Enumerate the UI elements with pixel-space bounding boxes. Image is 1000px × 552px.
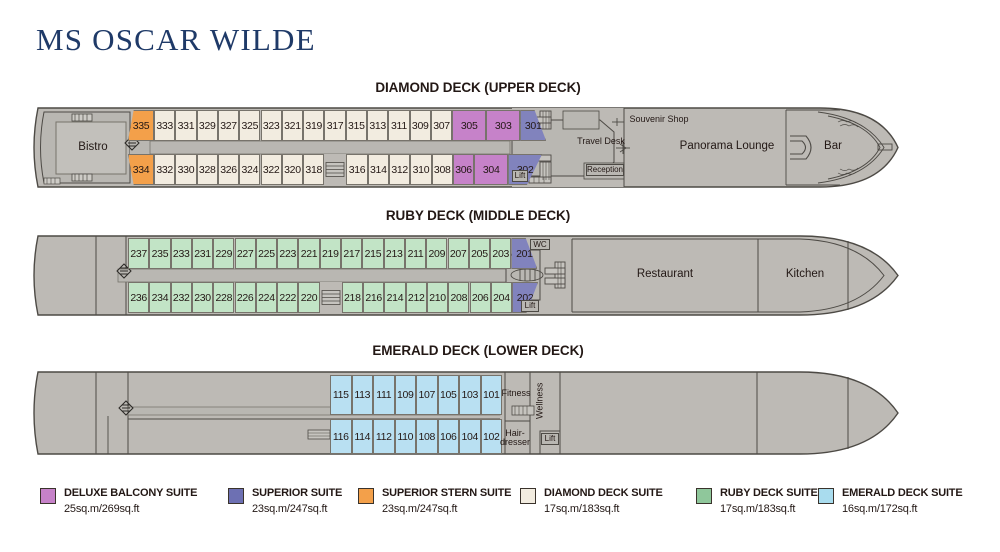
cabin-number: 306 (455, 164, 472, 176)
room-label-lift: Lift (521, 300, 539, 312)
cabin-317[interactable]: 317 (324, 110, 345, 141)
cabin-number: 320 (284, 164, 301, 176)
cabin-number: 104 (461, 431, 478, 443)
deck-heading-ruby: RUBY DECK (MIDDLE DECK) (0, 208, 978, 223)
cabin-number: 305 (461, 120, 478, 132)
stairwell-icon (320, 282, 342, 313)
legend-swatch (520, 488, 536, 504)
page-title: MS OSCAR WILDE (36, 22, 316, 58)
cabin-223[interactable]: 223 (277, 238, 298, 269)
cabin-number: 232 (173, 292, 190, 304)
room-label-lift: Lift (512, 170, 528, 182)
cabin-212[interactable]: 212 (406, 282, 427, 313)
cabin-number: 224 (258, 292, 275, 304)
cabin-number: 207 (450, 248, 467, 260)
cabin-106[interactable]: 106 (438, 419, 460, 454)
cabin-number: 309 (412, 120, 429, 132)
cabin-number: 334 (133, 164, 150, 176)
cabin-number: 231 (194, 248, 211, 260)
cabin-number: 322 (263, 164, 280, 176)
room-label-bistro: Bistro (60, 138, 126, 158)
legend-label: SUPERIOR SUITE (252, 487, 342, 499)
legend-label: DIAMOND DECK SUITE (544, 487, 663, 499)
cabin-number: 205 (471, 248, 488, 260)
cabin-number: 223 (279, 248, 296, 260)
cabin-number: 329 (199, 120, 216, 132)
cabin-number: 106 (440, 431, 457, 443)
cabin-237[interactable]: 237 (128, 238, 149, 269)
cabin-number: 206 (472, 292, 489, 304)
cabin-number: 112 (376, 431, 392, 443)
cabin-105[interactable]: 105 (438, 375, 460, 415)
cabin-number: 226 (237, 292, 254, 304)
cabin-number: 325 (242, 120, 259, 132)
cabin-207[interactable]: 207 (448, 238, 469, 269)
cabin-number: 213 (386, 248, 403, 260)
cabin-number: 326 (220, 164, 237, 176)
cabin-224[interactable]: 224 (256, 282, 277, 313)
cabin-222[interactable]: 222 (277, 282, 298, 313)
cabin-number: 328 (199, 164, 216, 176)
cabin-number: 235 (152, 248, 169, 260)
cabin-number: 217 (343, 248, 360, 260)
legend-size: 23sq.m/247sq.ft (382, 503, 457, 515)
cabin-318[interactable]: 318 (303, 154, 324, 185)
cabin-235[interactable]: 235 (149, 238, 170, 269)
cabin-number: 303 (495, 120, 512, 132)
legend-swatch (818, 488, 834, 504)
cabin-208[interactable]: 208 (448, 282, 469, 313)
cabin-326[interactable]: 326 (218, 154, 239, 185)
legend-size: 23sq.m/247sq.ft (252, 503, 327, 515)
cabin-number: 312 (391, 164, 408, 176)
cabin-112[interactable]: 112 (373, 419, 395, 454)
cabin-236[interactable]: 236 (128, 282, 149, 313)
legend-label: SUPERIOR STERN SUITE (382, 487, 511, 499)
cabin-328[interactable]: 328 (197, 154, 218, 185)
cabin-number: 102 (483, 431, 500, 443)
cabin-217[interactable]: 217 (341, 238, 362, 269)
cabin-214[interactable]: 214 (384, 282, 405, 313)
cabin-number: 229 (216, 248, 233, 260)
cabin-304[interactable]: 304 (474, 154, 508, 185)
cabin-306[interactable]: 306 (453, 154, 474, 185)
cabin-113[interactable]: 113 (352, 375, 374, 415)
cabin-110[interactable]: 110 (395, 419, 417, 454)
cabin-213[interactable]: 213 (384, 238, 405, 269)
cabin-325[interactable]: 325 (239, 110, 260, 141)
cabin-number: 218 (344, 292, 361, 304)
cabin-number: 208 (451, 292, 468, 304)
cabin-number: 228 (216, 292, 233, 304)
cabin-330[interactable]: 330 (175, 154, 196, 185)
cabin-226[interactable]: 226 (235, 282, 256, 313)
cabin-number: 319 (305, 120, 322, 132)
legend-label: DELUXE BALCONY SUITE (64, 487, 197, 499)
cabin-number: 310 (413, 164, 430, 176)
room-label-hair-dresser: Hair-dresser (502, 425, 528, 451)
cabin-215[interactable]: 215 (362, 238, 383, 269)
cabin-number: 209 (429, 248, 446, 260)
cabin-307[interactable]: 307 (431, 110, 452, 141)
cabin-number: 234 (152, 292, 169, 304)
cabin-number: 335 (133, 120, 150, 132)
cabin-203[interactable]: 203 (490, 238, 511, 269)
legend-label: RUBY DECK SUITE (720, 487, 818, 499)
cabin-220[interactable]: 220 (298, 282, 319, 313)
cabin-number: 108 (418, 431, 435, 443)
cabin-number: 216 (365, 292, 382, 304)
cabin-number: 307 (433, 120, 450, 132)
cabin-number: 225 (258, 248, 275, 260)
cabin-number: 109 (397, 389, 414, 401)
room-label-wc: WC (530, 239, 550, 250)
cabin-233[interactable]: 233 (171, 238, 192, 269)
cabin-number: 324 (242, 164, 259, 176)
room-label-kitchen: Kitchen (780, 266, 830, 284)
cabin-231[interactable]: 231 (192, 238, 213, 269)
cabin-211[interactable]: 211 (405, 238, 426, 269)
cabin-number: 321 (284, 120, 301, 132)
cabin-206[interactable]: 206 (470, 282, 491, 313)
cabin-332[interactable]: 332 (154, 154, 175, 185)
cabin-232[interactable]: 232 (171, 282, 192, 313)
cabin-327[interactable]: 327 (218, 110, 239, 141)
room-label-wellness: Wellness (532, 377, 548, 425)
cabin-234[interactable]: 234 (149, 282, 170, 313)
cabin-309[interactable]: 309 (410, 110, 431, 141)
cabin-number: 111 (376, 389, 391, 401)
cabin-number: 220 (301, 292, 318, 304)
cabin-number: 101 (483, 389, 500, 401)
room-label-souvenir-shop: Souvenir Shop (624, 114, 694, 124)
cabin-number: 317 (327, 120, 344, 132)
cabin-number: 107 (418, 389, 435, 401)
cabin-311[interactable]: 311 (388, 110, 409, 141)
cabin-103[interactable]: 103 (459, 375, 481, 415)
deck-emerald: 1151131111091071051031011161141121101081… (0, 363, 1000, 463)
room-label-travel-desk: Travel Desk (576, 136, 626, 146)
cabin-number: 221 (301, 248, 318, 260)
cabin-number: 222 (279, 292, 296, 304)
cabin-204[interactable]: 204 (491, 282, 512, 313)
cabin-number: 237 (130, 248, 147, 260)
cabin-number: 110 (397, 431, 413, 443)
cabin-number: 311 (391, 120, 407, 132)
room-label-bar: Bar (818, 138, 848, 156)
cabin-number: 116 (333, 431, 349, 443)
room-label-restaurant: Restaurant (620, 266, 710, 284)
legend-swatch (358, 488, 374, 504)
deck-heading-emerald: EMERALD DECK (LOWER DECK) (0, 343, 978, 358)
cabin-322[interactable]: 322 (261, 154, 282, 185)
cabin-216[interactable]: 216 (363, 282, 384, 313)
cabin-number: 236 (130, 292, 147, 304)
cabin-230[interactable]: 230 (192, 282, 213, 313)
legend-size: 17sq.m/183sq.ft (544, 503, 619, 515)
cabin-205[interactable]: 205 (469, 238, 490, 269)
cabin-number: 103 (461, 389, 478, 401)
cabin-115[interactable]: 115 (330, 375, 352, 415)
cabin-number: 313 (369, 120, 386, 132)
cabin-number: 214 (387, 292, 404, 304)
cabin-313[interactable]: 313 (367, 110, 388, 141)
deck-plan-page: MS OSCAR WILDE DIAMOND DECK (UPPER DECK) (0, 0, 1000, 552)
cabin-number: 333 (156, 120, 173, 132)
stairwell-icon (324, 154, 346, 185)
cabin-number: 105 (440, 389, 457, 401)
cabin-number: 318 (305, 164, 322, 176)
legend: DELUXE BALCONY SUITE25sq.m/269sq.ftSUPER… (0, 482, 1000, 542)
room-label-reception: Reception (586, 164, 624, 176)
cabin-number: 204 (493, 292, 510, 304)
cabin-221[interactable]: 221 (298, 238, 319, 269)
legend-label: EMERALD DECK SUITE (842, 487, 962, 499)
cabin-number: 227 (237, 248, 254, 260)
cabin-319[interactable]: 319 (303, 110, 324, 141)
cabin-number: 215 (365, 248, 382, 260)
cabin-number: 113 (354, 389, 370, 401)
cabin-320[interactable]: 320 (282, 154, 303, 185)
cabin-number: 323 (263, 120, 280, 132)
cabin-329[interactable]: 329 (197, 110, 218, 141)
cabin-104[interactable]: 104 (459, 419, 481, 454)
cabin-number: 304 (483, 164, 500, 176)
cabin-228[interactable]: 228 (213, 282, 234, 313)
cabin-111[interactable]: 111 (373, 375, 395, 415)
cabin-219[interactable]: 219 (320, 238, 341, 269)
cabin-321[interactable]: 321 (282, 110, 303, 141)
cabin-303[interactable]: 303 (486, 110, 520, 141)
cabin-305[interactable]: 305 (452, 110, 486, 141)
cabin-314[interactable]: 314 (368, 154, 389, 185)
cabin-102[interactable]: 102 (481, 419, 503, 454)
cabin-312[interactable]: 312 (389, 154, 410, 185)
legend-swatch (40, 488, 56, 504)
cabin-number: 233 (173, 248, 190, 260)
legend-swatch (228, 488, 244, 504)
room-label-panorama-lounge: Panorama Lounge (672, 138, 782, 156)
cabin-333[interactable]: 333 (154, 110, 175, 141)
cabin-229[interactable]: 229 (213, 238, 234, 269)
cabin-number: 114 (354, 431, 370, 443)
deck-heading-diamond: DIAMOND DECK (UPPER DECK) (0, 80, 978, 95)
cabin-number: 211 (408, 248, 424, 260)
cabin-number: 315 (348, 120, 365, 132)
cabin-109[interactable]: 109 (395, 375, 417, 415)
cabin-315[interactable]: 315 (346, 110, 367, 141)
cabin-210[interactable]: 210 (427, 282, 448, 313)
cabin-218[interactable]: 218 (342, 282, 363, 313)
cabin-number: 115 (333, 389, 349, 401)
cabin-227[interactable]: 227 (235, 238, 256, 269)
cabin-316[interactable]: 316 (346, 154, 367, 185)
cabin-number: 316 (349, 164, 366, 176)
room-label-lift: Lift (541, 433, 559, 445)
cabin-101[interactable]: 101 (481, 375, 503, 415)
cabin-number: 210 (429, 292, 446, 304)
room-label-fitness: Fitness (502, 385, 530, 401)
cabin-324[interactable]: 324 (239, 154, 260, 185)
legend-size: 25sq.m/269sq.ft (64, 503, 139, 515)
cabin-number: 327 (220, 120, 237, 132)
cabin-107[interactable]: 107 (416, 375, 438, 415)
cabin-310[interactable]: 310 (410, 154, 431, 185)
cabin-number: 230 (194, 292, 211, 304)
legend-size: 16sq.m/172sq.ft (842, 503, 917, 515)
cabin-number: 308 (434, 164, 451, 176)
cabin-114[interactable]: 114 (352, 419, 374, 454)
cabin-331[interactable]: 331 (175, 110, 196, 141)
cabin-number: 212 (408, 292, 425, 304)
cabin-209[interactable]: 209 (426, 238, 447, 269)
cabin-116[interactable]: 116 (330, 419, 352, 454)
cabin-225[interactable]: 225 (256, 238, 277, 269)
deck-ruby: 2372352332312292272252232212192172152132… (0, 228, 1000, 323)
cabin-308[interactable]: 308 (432, 154, 453, 185)
cabin-number: 331 (178, 120, 195, 132)
deck-diamond: 3353333313293273253233213193173153133113… (0, 100, 1000, 195)
cabin-number: 314 (370, 164, 387, 176)
cabin-323[interactable]: 323 (261, 110, 282, 141)
cabin-number: 219 (322, 248, 339, 260)
cabin-number: 203 (492, 248, 509, 260)
legend-swatch (696, 488, 712, 504)
cabin-number: 332 (156, 164, 173, 176)
cabin-108[interactable]: 108 (416, 419, 438, 454)
cabin-number: 330 (178, 164, 195, 176)
legend-size: 17sq.m/183sq.ft (720, 503, 795, 515)
